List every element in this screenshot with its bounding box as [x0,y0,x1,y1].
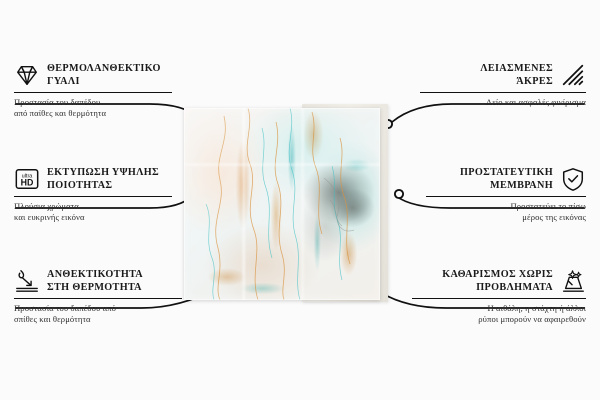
diamond-icon [14,62,40,88]
feature-desc-line2: μέρος της εικόνας [522,212,586,222]
glass-panel [184,108,380,300]
divider [426,196,586,197]
feature-title-line1: ΚΑΘΑΡΙΣΜΟΣ ΧΩΡΙΣ [442,269,553,280]
feature-description: Πλούσια χρώματα και ευκρινής εικόνα [14,201,192,224]
feature-desc-line1: Η αιθάλη, η στάχτη ή άλλοι [488,303,587,313]
divider [412,298,586,299]
feature-title-line1: ΑΝΘΕΚΤΙΚΟΤΗΤΑ [47,269,143,280]
feature-title: ΠΡΟΣΤΑΤΕΥΤΙΚΗ ΜΕΜΒΡΑΝΗ [408,166,553,193]
hd-label: HD [21,178,34,188]
feature-description: Προστασία του δαπέδου από παίθες και θερ… [14,97,192,120]
feature-desc-line1: Λείο και ασφαλές φινίρισμα [486,97,586,107]
feature-title: ΚΑΘΑΡΙΣΜΟΣ ΧΩΡΙΣ ΠΡΟΒΛΗΜΑΤΑ [408,268,553,295]
feature-title-line2: ΣΤΗ ΘΕΡΜΟΤΗΤΑ [47,282,142,293]
feature-title-line1: ΠΡΟΣΤΑΤΕΥΤΙΚΗ [460,167,553,178]
feature-desc-line2: από παίθες και θερμότητα [14,108,106,118]
feature-title-line2: ΆΚΡΕΣ [516,76,553,87]
feature-protective-membrane: ΠΡΟΣΤΑΤΕΥΤΙΚΗ ΜΕΜΒΡΑΝΗ Προστατεύει το πί… [408,166,586,224]
feature-desc-line2: και ευκρινής εικόνα [14,212,85,222]
feature-title-line2: ΜΕΜΒΡΑΝΗ [490,180,553,191]
feature-description: Λείο και ασφαλές φινίρισμα [408,97,586,109]
feature-heat-resistant-glass: ΘΕΡΜΟΛΑΝΘΕΚΤΙΚΟ ΓΥΑΛΙ Προστασία του δαπέ… [14,62,192,120]
feature-title-line2: ΠΡΟΒΛΗΜΑΤΑ [476,282,553,293]
infographic-root: ΘΕΡΜΟΛΑΝΘΕΚΤΙΚΟ ΓΥΑΛΙ Προστασία του δαπέ… [0,0,600,400]
feature-title-line1: ΛΕΙΑΣΜΕΝΕΣ [480,63,553,74]
feature-title: ΑΝΘΕΚΤΙΚΟΤΗΤΑ ΣΤΗ ΘΕΡΜΟΤΗΤΑ [47,268,192,295]
feature-desc-line1: Πλούσια χρώματα [14,201,79,211]
feature-title-line1: ΕΚΤΥΠΩΣΗ ΥΨΗΛΗΣ [47,167,159,178]
feature-title: ΘΕΡΜΟΛΑΝΘΕΚΤΙΚΟ ΓΥΑΛΙ [47,62,192,89]
ink-vein-detail [184,108,380,300]
divider [14,92,172,93]
feature-description: Προστατεύει το πίσω μέρος της εικόνας [408,201,586,224]
feature-title: ΕΚΤΥΠΩΣΗ ΥΨΗΛΗΣ ΠΟΙΟΤΗΤΑΣ [47,166,192,193]
feature-description: Προστασία του δαπέδου από σπίθες και θερ… [14,303,192,326]
feature-desc-line1: Προστασία του δαπέδου από [14,303,116,313]
heat-resistance-icon [14,268,40,294]
feature-easy-cleaning: ΚΑΘΑΡΙΣΜΟΣ ΧΩΡΙΣ ΠΡΟΒΛΗΜΑΤΑ Η αιθάλη, η … [408,268,586,326]
feature-title-line2: ΠΟΙΟΤΗΤΑΣ [47,180,112,191]
feature-high-quality-print: ultra HD ΕΚΤΥΠΩΣΗ ΥΨΗΛΗΣ ΠΟΙΟΤΗΤΑΣ Πλούσ… [14,166,192,224]
feature-title: ΛΕΙΑΣΜΕΝΕΣ ΆΚΡΕΣ [408,62,553,89]
shield-check-icon [560,166,586,192]
divider [14,298,182,299]
feature-description: Η αιθάλη, η στάχτη ή άλλοι ρύποι μπορούν… [408,303,586,326]
ultra-hd-icon: ultra HD [14,166,40,192]
connector-dot-right-2 [395,190,403,198]
feature-desc-line1: Προστασία του δαπέδου [14,97,100,107]
feature-title-line2: ΓΥΑΛΙ [47,76,80,87]
feature-title-line1: ΘΕΡΜΟΛΑΝΘΕΚΤΙΚΟ [47,63,161,74]
feature-desc-line1: Προστατεύει το πίσω [510,201,586,211]
feature-desc-line2: σπίθες και θερμότητα [14,314,91,324]
product-image [184,108,384,303]
feature-heat-durability: ΑΝΘΕΚΤΙΚΟΤΗΤΑ ΣΤΗ ΘΕΡΜΟΤΗΤΑ Προστασία το… [14,268,192,326]
polished-edges-icon [560,62,586,88]
divider [420,92,586,93]
easy-clean-icon [560,268,586,294]
divider [14,196,172,197]
feature-desc-line2: ρύποι μπορούν να αφαιρεθούν [478,314,586,324]
feature-polished-edges: ΛΕΙΑΣΜΕΝΕΣ ΆΚΡΕΣ Λείο και ασφαλές φινίρι… [408,62,586,108]
